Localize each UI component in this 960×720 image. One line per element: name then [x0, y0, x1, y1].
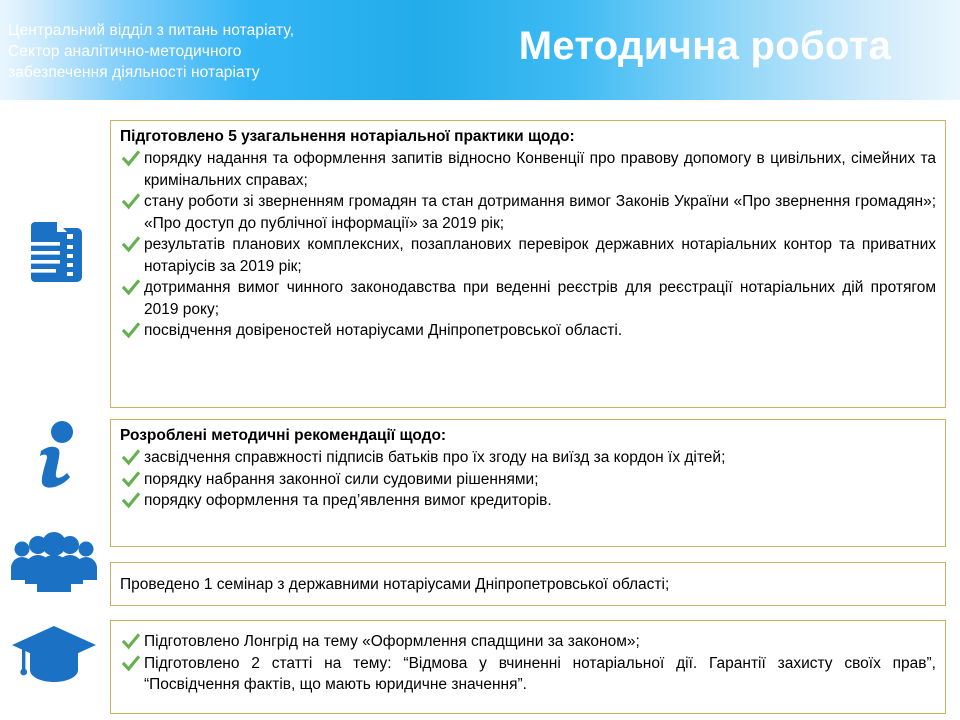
- check-mark-icon: [122, 633, 140, 651]
- publications-box: Підготовлено Лонгрід на тему «Оформлення…: [110, 620, 946, 714]
- check-mark-icon: [122, 322, 140, 340]
- list-item-label: порядку набрання законної сили судовими …: [144, 471, 539, 488]
- info-icon: [0, 418, 108, 497]
- list-item-label: Підготовлено 2 статті на тему: “Відмова …: [144, 655, 936, 694]
- check-mark-icon: [122, 492, 140, 510]
- recommendations-heading: Розроблені методичні рекомендації щодо:: [120, 425, 936, 446]
- list-item-label: порядку надання та оформлення запитів ві…: [144, 150, 936, 189]
- list-item: Підготовлено Лонгрід на тему «Оформлення…: [120, 631, 936, 653]
- list-item: стану роботи зі зверненням громадян та с…: [120, 191, 936, 234]
- publications-list: Підготовлено Лонгрід на тему «Оформлення…: [120, 631, 936, 696]
- check-mark-icon: [122, 236, 140, 254]
- list-item: результатів планових комплексних, позапл…: [120, 234, 936, 277]
- check-mark-icon: [122, 150, 140, 168]
- check-mark-icon: [122, 449, 140, 467]
- recommendations-list: засвідчення справжності підписів батьків…: [120, 447, 936, 512]
- list-item-label: дотримання вимог чинного законодавства п…: [144, 279, 936, 318]
- list-item: посвідчення довіреностей нотаріусами Дні…: [120, 320, 936, 342]
- list-item: засвідчення справжності підписів батьків…: [120, 447, 936, 469]
- check-mark-icon: [122, 655, 140, 673]
- list-item: порядку оформлення та пред’явлення вимог…: [120, 490, 936, 512]
- generalizations-box: Підготовлено 5 узагальнення нотаріальної…: [110, 120, 946, 408]
- page-header: Центральний відділ з питань нотаріату, С…: [0, 0, 960, 100]
- check-mark-icon: [122, 279, 140, 297]
- list-item-label: засвідчення справжності підписів батьків…: [144, 449, 725, 466]
- list-item-label: порядку оформлення та пред’явлення вимог…: [144, 492, 552, 509]
- list-item: порядку набрання законної сили судовими …: [120, 469, 936, 491]
- documents-icon: [0, 218, 108, 301]
- list-item-label: Підготовлено Лонгрід на тему «Оформлення…: [144, 633, 640, 650]
- generalizations-list: порядку надання та оформлення запитів ві…: [120, 148, 936, 342]
- list-item-label: стану роботи зі зверненням громадян та с…: [144, 193, 936, 232]
- page-title: Методична робота: [470, 22, 940, 70]
- seminar-text: Проведено 1 семінар з державними нотаріу…: [120, 574, 936, 595]
- list-item: Підготовлено 2 статті на тему: “Відмова …: [120, 653, 936, 696]
- icon-column: [0, 100, 108, 720]
- generalizations-heading: Підготовлено 5 узагальнення нотаріальної…: [120, 126, 936, 147]
- header-subtitle: Центральний відділ з питань нотаріату, С…: [8, 20, 438, 83]
- people-group-icon: [0, 532, 108, 599]
- list-item: порядку надання та оформлення запитів ві…: [120, 148, 936, 191]
- seminar-box: Проведено 1 семінар з державними нотаріу…: [110, 562, 946, 606]
- graduation-cap-icon: [0, 622, 108, 693]
- check-mark-icon: [122, 471, 140, 489]
- recommendations-box: Розроблені методичні рекомендації щодо: …: [110, 419, 946, 547]
- list-item: дотримання вимог чинного законодавства п…: [120, 277, 936, 320]
- list-item-label: результатів планових комплексних, позапл…: [144, 236, 936, 275]
- list-item-label: посвідчення довіреностей нотаріусами Дні…: [144, 322, 622, 339]
- check-mark-icon: [122, 193, 140, 211]
